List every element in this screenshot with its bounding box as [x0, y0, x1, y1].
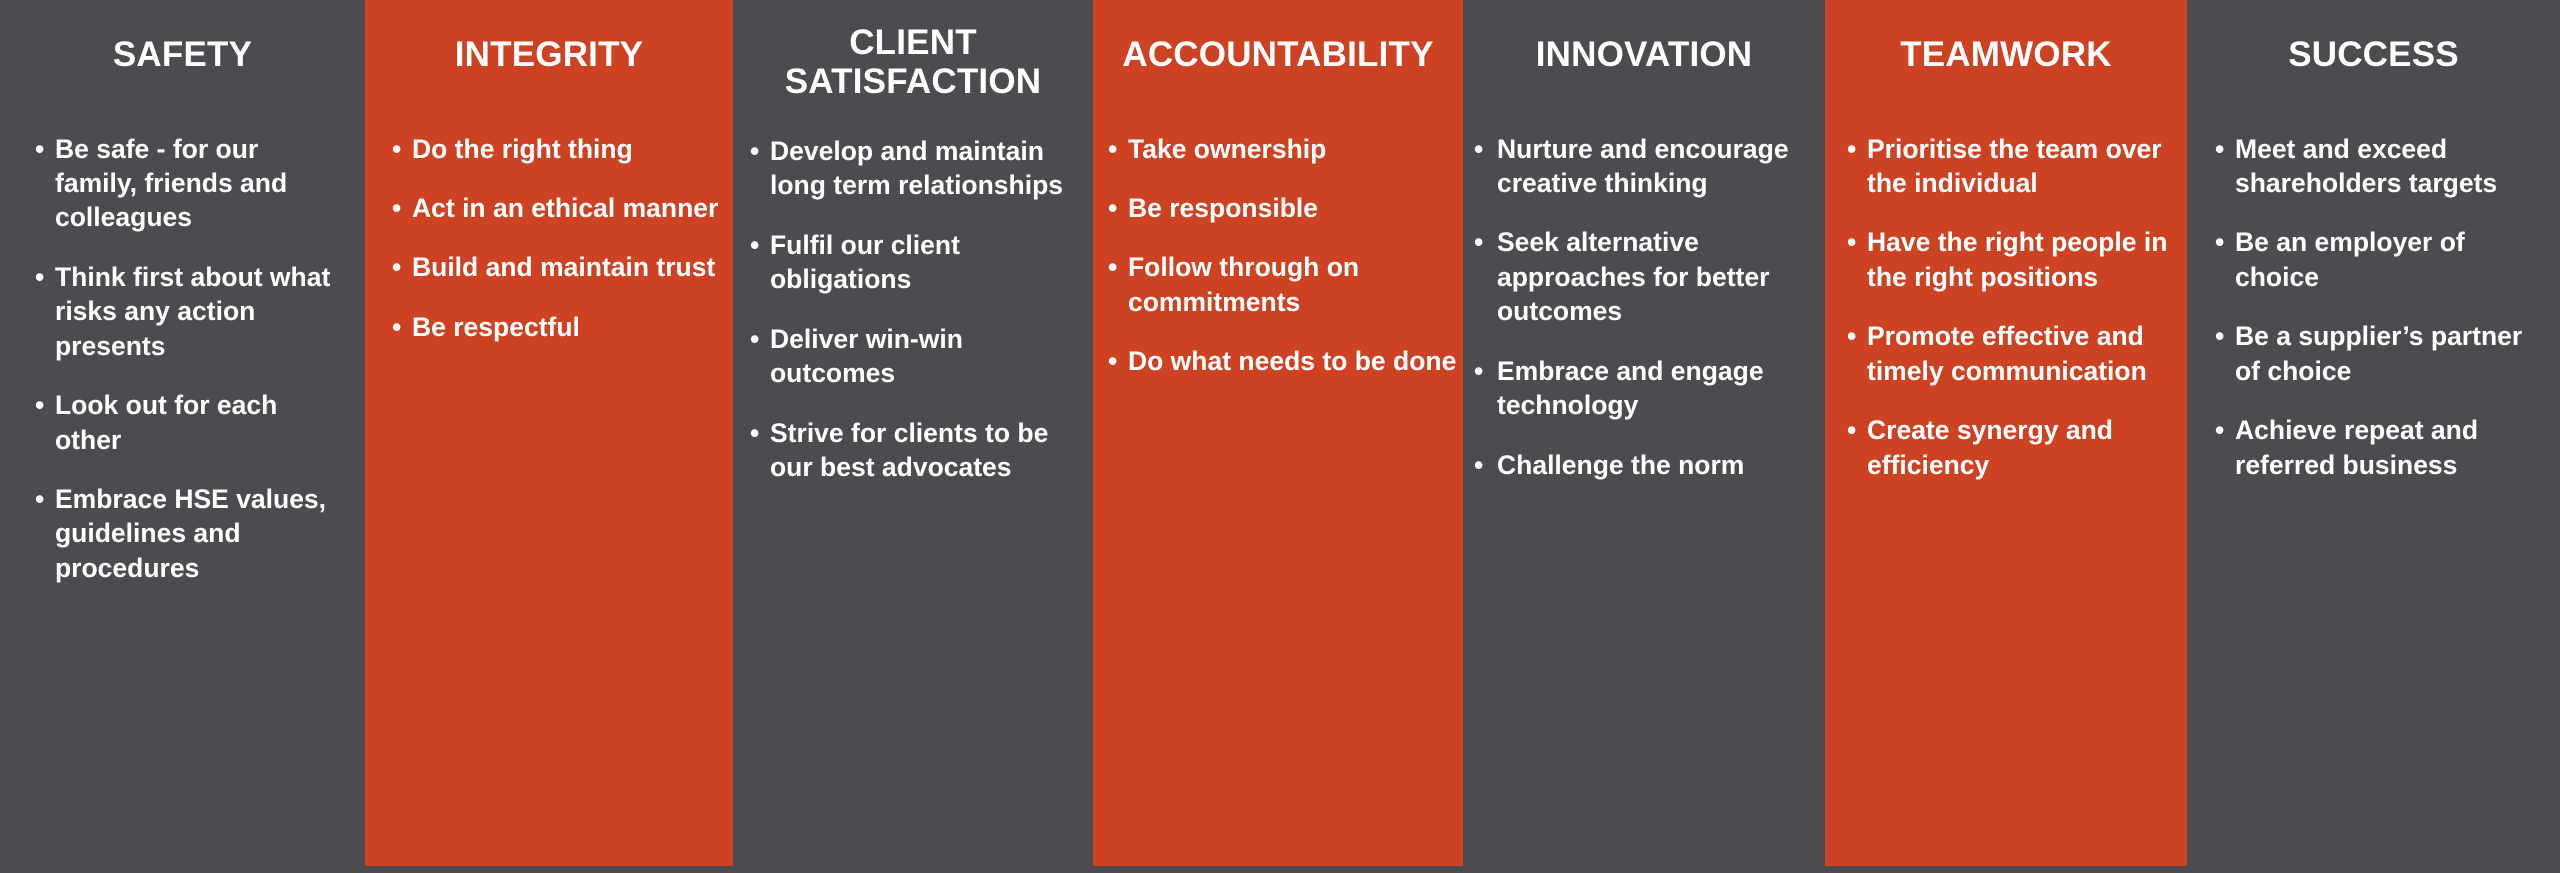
bullet-item: •Do what needs to be done	[1106, 344, 1457, 378]
bullet-dot-icon: •	[35, 482, 44, 516]
bullet-text: Create synergy and efficiency	[1867, 415, 2113, 479]
bullet-text: Develop and maintain long term relations…	[770, 136, 1063, 200]
bullet-item: •Be respectful	[390, 310, 723, 344]
bullet-item: •Embrace and engage technology	[1472, 354, 1819, 423]
column-title-teamwork: TEAMWORK	[1825, 0, 2187, 75]
bullet-dot-icon: •	[750, 416, 759, 450]
bullet-dot-icon: •	[750, 134, 759, 168]
bullet-item: •Strive for clients to be our best advoc…	[748, 416, 1087, 485]
bullet-text: Meet and exceed shareholders targets	[2235, 134, 2497, 198]
value-column-innovation: INNOVATION•Nurture and encourage creativ…	[1463, 0, 1825, 873]
bullet-dot-icon: •	[392, 191, 401, 225]
bullet-list-safety: •Be safe - for our family, friends and c…	[0, 75, 365, 586]
bullet-text: Achieve repeat and referred business	[2235, 415, 2478, 479]
bullet-text: Embrace HSE values, guidelines and proce…	[55, 484, 326, 583]
bullet-item: •Be responsible	[1106, 191, 1457, 225]
bullet-dot-icon: •	[35, 388, 44, 422]
bullet-dot-icon: •	[2215, 132, 2224, 166]
bullet-dot-icon: •	[750, 322, 759, 356]
bullet-text: Act in an ethical manner	[412, 193, 718, 223]
bullet-item: •Create synergy and efficiency	[1845, 413, 2181, 482]
bullet-dot-icon: •	[35, 132, 44, 166]
bullet-text: Be a supplier’s partner of choice	[2235, 321, 2522, 385]
bullet-dot-icon: •	[750, 228, 759, 262]
bullet-item: •Seek alternative approaches for better …	[1472, 225, 1819, 328]
bullet-list-client-satisfaction: •Develop and maintain long term relation…	[733, 101, 1093, 485]
value-column-client-satisfaction: CLIENT SATISFACTION•Develop and maintain…	[733, 0, 1093, 873]
bullet-item: •Fulfil our client obligations	[748, 228, 1087, 297]
bullet-dot-icon: •	[392, 250, 401, 284]
bullet-item: •Develop and maintain long term relation…	[748, 134, 1087, 203]
bullet-dot-icon: •	[2215, 319, 2224, 353]
bullet-item: •Have the right people in the right posi…	[1845, 225, 2181, 294]
bullet-text: Do what needs to be done	[1128, 346, 1456, 376]
value-column-accountability: ACCOUNTABILITY•Take ownership•Be respons…	[1093, 0, 1463, 866]
bullet-dot-icon: •	[1108, 344, 1117, 378]
bullet-text: Prioritise the team over the individual	[1867, 134, 2162, 198]
bullet-text: Take ownership	[1128, 134, 1326, 164]
bullet-list-accountability: •Take ownership•Be responsible•Follow th…	[1093, 75, 1463, 379]
bullet-text: Nurture and encourage creative thinking	[1497, 134, 1789, 198]
column-title-client-satisfaction: CLIENT SATISFACTION	[733, 0, 1093, 101]
bullet-dot-icon: •	[1847, 413, 1856, 447]
column-title-accountability: ACCOUNTABILITY	[1093, 0, 1463, 75]
bullet-dot-icon: •	[392, 132, 401, 166]
column-title-safety: SAFETY	[0, 0, 365, 75]
bullet-item: •Follow through on commitments	[1106, 250, 1457, 319]
bullet-item: •Prioritise the team over the individual	[1845, 132, 2181, 201]
bullet-item: •Be safe - for our family, friends and c…	[33, 132, 347, 235]
bullet-text: Embrace and engage technology	[1497, 356, 1764, 420]
bullet-item: •Act in an ethical manner	[390, 191, 723, 225]
bullet-text: Promote effective and timely communicati…	[1867, 321, 2147, 385]
bullet-dot-icon: •	[1474, 132, 1483, 166]
bullet-text: Be safe - for our family, friends and co…	[55, 134, 287, 233]
bullet-item: •Look out for each other	[33, 388, 347, 457]
bullet-text: Be an employer of choice	[2235, 227, 2465, 291]
bullet-item: •Challenge the norm	[1472, 448, 1819, 482]
bullet-dot-icon: •	[35, 260, 44, 294]
bullet-list-integrity: •Do the right thing•Act in an ethical ma…	[365, 75, 733, 345]
bullet-dot-icon: •	[1847, 319, 1856, 353]
column-title-integrity: INTEGRITY	[365, 0, 733, 75]
value-column-success: SUCCESS•Meet and exceed shareholders tar…	[2187, 0, 2560, 873]
bullet-list-teamwork: •Prioritise the team over the individual…	[1825, 75, 2187, 483]
bullet-dot-icon: •	[1474, 448, 1483, 482]
bullet-text: Have the right people in the right posit…	[1867, 227, 2167, 291]
bullet-item: •Build and maintain trust	[390, 250, 723, 284]
bullet-item: •Be a supplier’s partner of choice	[2213, 319, 2554, 388]
bullet-list-innovation: •Nurture and encourage creative thinking…	[1463, 75, 1825, 483]
bullet-item: •Be an employer of choice	[2213, 225, 2554, 294]
bullet-dot-icon: •	[1847, 225, 1856, 259]
bullet-text: Fulfil our client obligations	[770, 230, 960, 294]
column-title-success: SUCCESS	[2187, 0, 2560, 75]
bullet-text: Look out for each other	[55, 390, 277, 454]
bullet-dot-icon: •	[1108, 132, 1117, 166]
value-column-safety: SAFETY•Be safe - for our family, friends…	[0, 0, 365, 873]
bullet-text: Deliver win-win outcomes	[770, 324, 963, 388]
bullet-dot-icon: •	[2215, 225, 2224, 259]
bullet-item: •Deliver win-win outcomes	[748, 322, 1087, 391]
bullet-list-success: •Meet and exceed shareholders targets•Be…	[2187, 75, 2560, 483]
bullet-text: Build and maintain trust	[412, 252, 715, 282]
bullet-dot-icon: •	[1847, 132, 1856, 166]
bullet-text: Do the right thing	[412, 134, 633, 164]
bullet-item: •Achieve repeat and referred business	[2213, 413, 2554, 482]
value-column-integrity: INTEGRITY•Do the right thing•Act in an e…	[365, 0, 733, 866]
bullet-text: Be respectful	[412, 312, 580, 342]
bullet-item: •Think first about what risks any action…	[33, 260, 347, 363]
core-values-board: SAFETY•Be safe - for our family, friends…	[0, 0, 2560, 873]
bullet-item: •Take ownership	[1106, 132, 1457, 166]
bullet-item: •Meet and exceed shareholders targets	[2213, 132, 2554, 201]
bullet-text: Think first about what risks any action …	[55, 262, 330, 361]
bullet-dot-icon: •	[1474, 354, 1483, 388]
bullet-dot-icon: •	[1474, 225, 1483, 259]
bullet-item: •Do the right thing	[390, 132, 723, 166]
bullet-item: •Promote effective and timely communicat…	[1845, 319, 2181, 388]
bullet-dot-icon: •	[2215, 413, 2224, 447]
bullet-dot-icon: •	[1108, 191, 1117, 225]
bullet-dot-icon: •	[1108, 250, 1117, 284]
bullet-dot-icon: •	[392, 310, 401, 344]
value-column-teamwork: TEAMWORK•Prioritise the team over the in…	[1825, 0, 2187, 866]
bullet-text: Seek alternative approaches for better o…	[1497, 227, 1769, 326]
bullet-text: Be responsible	[1128, 193, 1318, 223]
bullet-text: Challenge the norm	[1497, 450, 1744, 480]
bullet-item: •Embrace HSE values, guidelines and proc…	[33, 482, 347, 585]
bullet-text: Follow through on commitments	[1128, 252, 1359, 316]
bullet-text: Strive for clients to be our best advoca…	[770, 418, 1048, 482]
column-title-innovation: INNOVATION	[1463, 0, 1825, 75]
bullet-item: •Nurture and encourage creative thinking	[1472, 132, 1819, 201]
